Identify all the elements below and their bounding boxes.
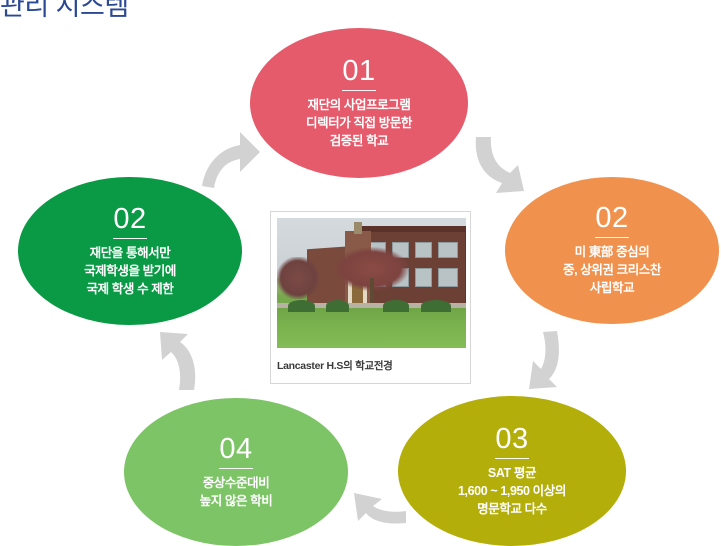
- school-building-photo: [277, 218, 466, 348]
- cycle-node-02[interactable]: 02 미 東部 중심의 중, 상위권 크리스찬 사립학교: [505, 177, 719, 324]
- cycle-node-05[interactable]: 02 재단을 통해서만 국제학생을 받기에 국제 학생 수 제한: [18, 177, 242, 325]
- arrow-up-icon: [152, 328, 204, 394]
- school-photo-card: Lancaster H.S의 학교전경: [270, 211, 471, 384]
- photo-shrub: [421, 300, 451, 312]
- photo-steeple: [354, 222, 362, 234]
- cycle-node-03[interactable]: 03 SAT 평균 1,600 ~ 1,950 이상의 명문학교 다수: [398, 396, 626, 546]
- photo-roofline: [360, 226, 466, 232]
- cycle-node-01-number: 01: [342, 57, 375, 91]
- photo-shrub: [326, 300, 349, 312]
- photo-window: [415, 242, 432, 258]
- cycle-node-01[interactable]: 01 재단의 사업프로그램 디렉터가 직접 방문한 검증된 학교: [250, 28, 468, 178]
- cycle-node-03-description: SAT 평균 1,600 ~ 1,950 이상의 명문학교 다수: [458, 464, 566, 518]
- photo-window: [415, 268, 432, 287]
- photo-window: [438, 242, 457, 258]
- infographic-canvas: 관리 시스템 01 재단의 사업프로그램 디렉터가 직접 방문한 검증된 학교 …: [0, 0, 721, 546]
- cycle-node-04-number: 04: [219, 435, 252, 469]
- photo-shrub: [288, 300, 314, 312]
- arrow-down-right-icon: [470, 131, 532, 195]
- photo-shrub: [383, 300, 409, 312]
- arrow-up-right-icon: [196, 128, 262, 192]
- cycle-node-05-number: 02: [113, 205, 146, 239]
- arrow-down-left-icon: [523, 327, 573, 395]
- cycle-node-03-number: 03: [495, 425, 528, 459]
- cycle-node-02-description: 미 東部 중심의 중, 상위권 크리스찬 사립학교: [563, 243, 661, 297]
- cycle-node-05-description: 재단을 통해서만 국제학생을 받기에 국제 학생 수 제한: [84, 244, 176, 298]
- school-photo-caption: Lancaster H.S의 학교전경: [277, 347, 466, 383]
- cycle-node-02-number: 02: [595, 204, 628, 238]
- cycle-node-04-description: 중상수준대비 높지 않은 학비: [200, 474, 273, 510]
- photo-window: [438, 268, 457, 287]
- cycle-node-01-description: 재단의 사업프로그램 디렉터가 직접 방문한 검증된 학교: [306, 96, 412, 150]
- arrow-left-icon: [340, 487, 410, 531]
- photo-tree-left: [277, 257, 319, 299]
- page-title: 관리 시스템: [0, 0, 129, 21]
- cycle-node-04[interactable]: 04 중상수준대비 높지 않은 학비: [124, 398, 348, 546]
